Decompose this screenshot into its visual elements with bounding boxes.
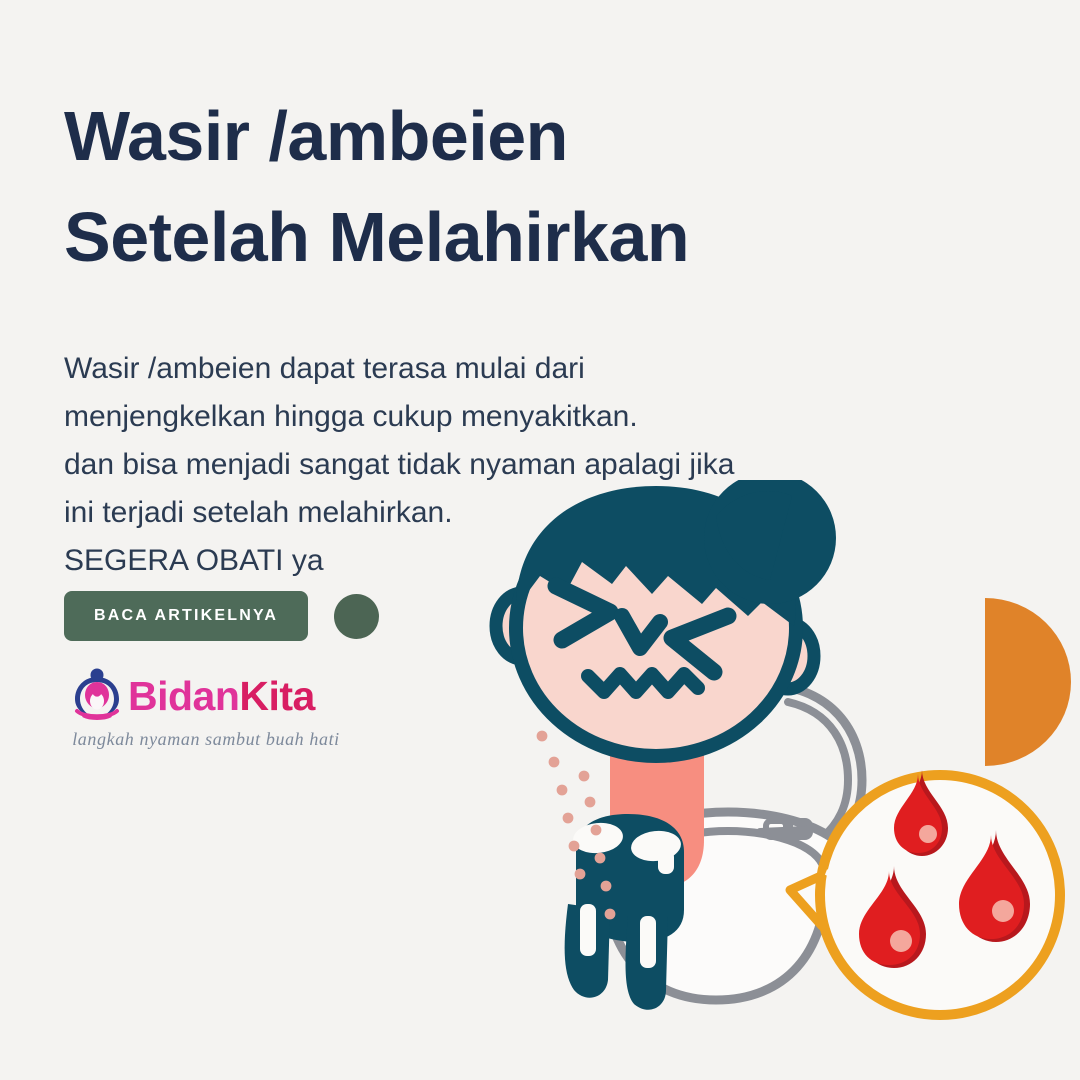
brand-logo[interactable]: BidanKita langkah nyaman sambut buah hat… — [70, 668, 370, 750]
poster-canvas: Wasir /ambeien Setelah Melahirkan Wasir … — [0, 0, 1080, 1080]
logo-lockup: BidanKita — [70, 668, 370, 724]
lowered-pants — [565, 814, 684, 1010]
logo-word-kita: Kita — [239, 673, 314, 719]
body-paragraph: Wasir /ambeien dapat terasa mulai dari m… — [64, 345, 894, 585]
body-line-4: ini terjadi setelah melahirkan. — [64, 489, 894, 537]
logo-wordmark: BidanKita — [128, 676, 315, 717]
decorative-dot — [334, 594, 379, 639]
page-title-line-1: Wasir /ambeien — [64, 86, 924, 187]
logo-tagline: langkah nyaman sambut buah hati — [70, 729, 342, 750]
body-line-1: Wasir /ambeien dapat terasa mulai dari — [64, 345, 894, 393]
lotus-mother-icon — [70, 668, 124, 725]
body-line-3: dan bisa menjadi sangat tidak nyaman apa… — [64, 441, 894, 489]
cta-row: BACA ARTIKELNYA — [64, 591, 379, 641]
body-line-2: menjengkelkan hingga cukup menyakitkan. — [64, 393, 894, 441]
body-line-5: SEGERA OBATI ya — [64, 537, 894, 585]
read-article-button[interactable]: BACA ARTIKELNYA — [64, 591, 308, 641]
logo-word-bidan: Bidan — [128, 673, 239, 719]
page-title-line-2: Setelah Melahirkan — [64, 187, 924, 288]
page-title: Wasir /ambeien Setelah Melahirkan — [64, 86, 924, 288]
blood-speech-bubble — [790, 770, 1060, 1015]
